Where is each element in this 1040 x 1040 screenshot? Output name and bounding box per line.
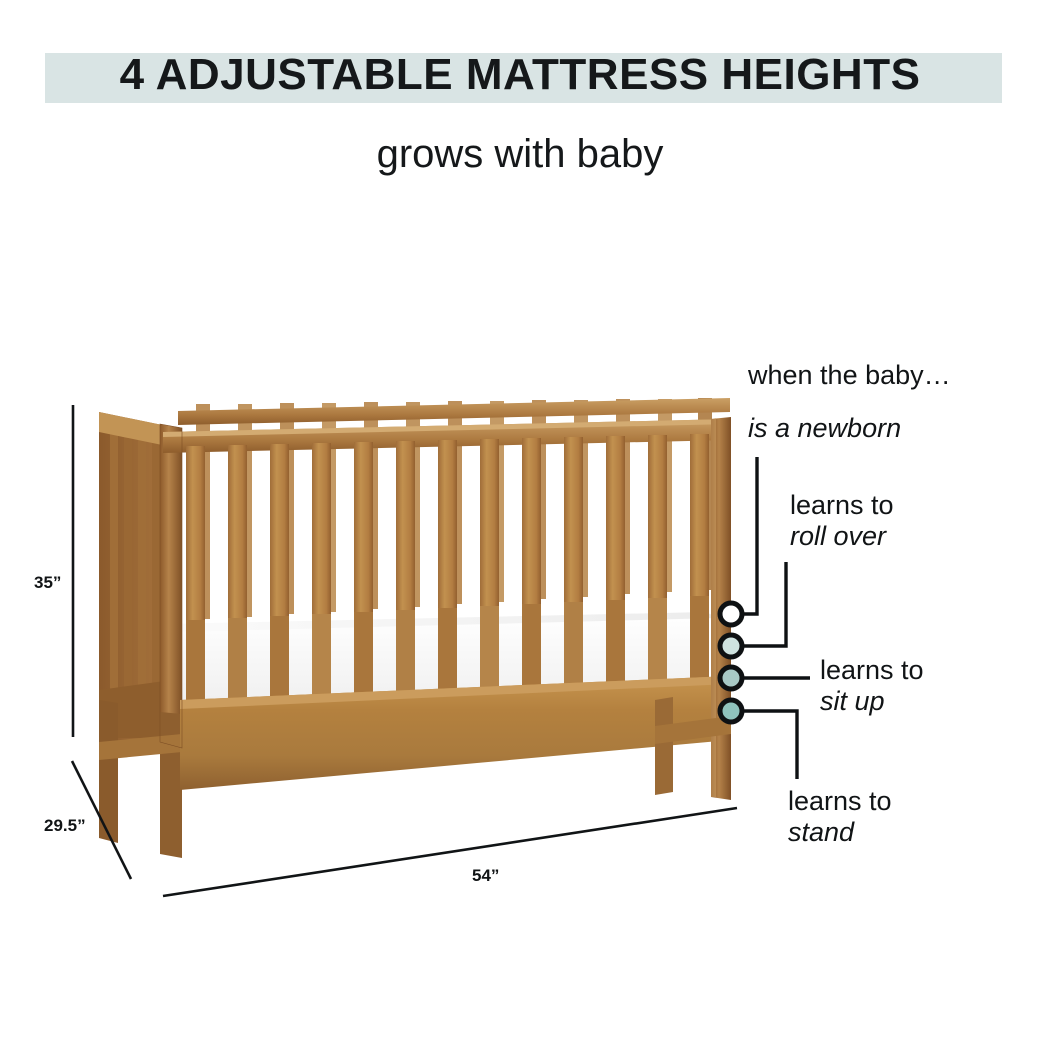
callout-stand-line1: learns to bbox=[788, 786, 892, 817]
leader-line-roll-over bbox=[742, 562, 786, 646]
callout-newborn: is a newborn bbox=[748, 413, 901, 444]
mattress-level-dot-2[interactable] bbox=[720, 635, 742, 657]
callout-sit-up-line2: sit up bbox=[820, 686, 924, 717]
callout-intro: when the baby… bbox=[748, 360, 951, 391]
callout-stand: learns to stand bbox=[788, 786, 892, 849]
infographic-canvas: 4 ADJUSTABLE MATTRESS HEIGHTS grows with… bbox=[0, 0, 1040, 1040]
mattress-level-dot-3[interactable] bbox=[720, 667, 742, 689]
callout-roll-over-line1: learns to bbox=[790, 490, 894, 521]
callout-sit-up: learns to sit up bbox=[820, 655, 924, 718]
mattress-level-dot-4[interactable] bbox=[720, 700, 742, 722]
callout-roll-over: learns to roll over bbox=[790, 490, 894, 553]
callout-sit-up-line1: learns to bbox=[820, 655, 924, 686]
callout-roll-over-line2: roll over bbox=[790, 521, 894, 552]
leader-line-stand bbox=[742, 711, 797, 779]
leader-line-newborn bbox=[742, 457, 757, 614]
callout-stand-line2: stand bbox=[788, 817, 892, 848]
callout-newborn-line2: is a newborn bbox=[748, 413, 901, 444]
mattress-level-dot-1[interactable] bbox=[720, 603, 742, 625]
